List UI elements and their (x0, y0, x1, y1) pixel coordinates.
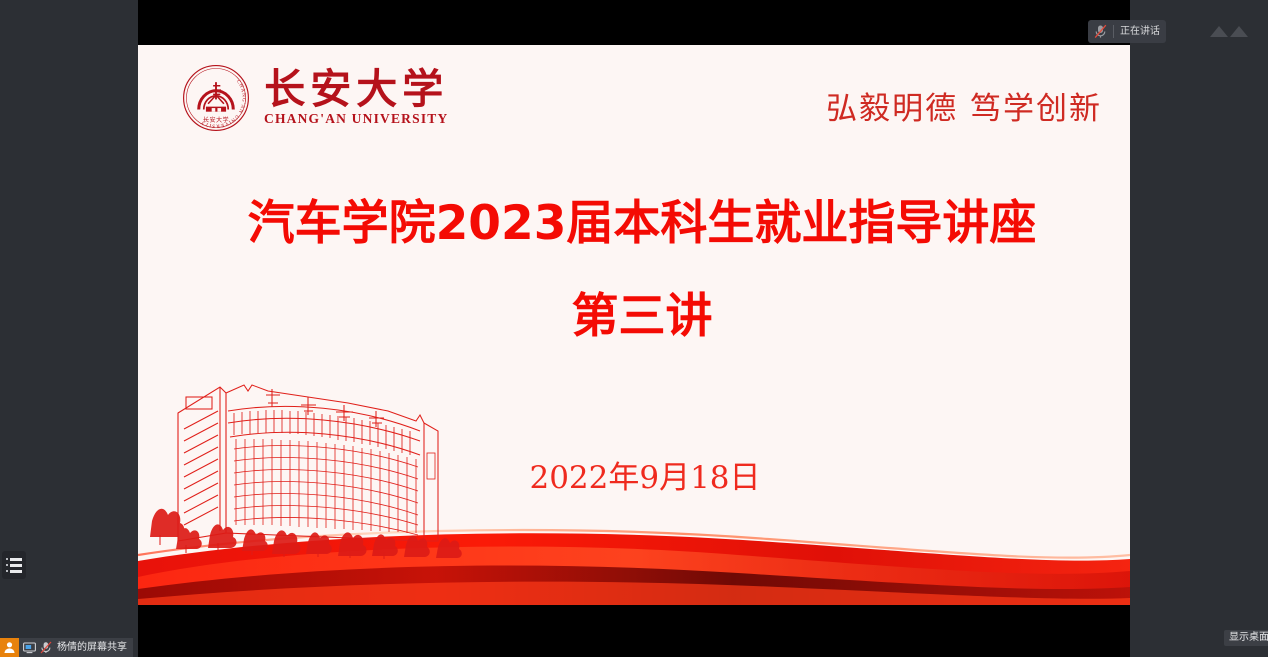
meeting-status-toolbar[interactable]: 正在讲话 (1088, 20, 1166, 43)
svg-text:长安大学: 长安大学 (203, 116, 229, 124)
list-menu-icon[interactable] (2, 551, 26, 579)
person-icon (0, 638, 19, 657)
university-name-cn: 长安大学 (264, 69, 448, 109)
slide-date: 2022年9月18日 (138, 463, 1130, 494)
university-seal-icon: CHANG'AN UNIVERSITY 长安大学 (180, 62, 252, 134)
taskbar-screen-share-item[interactable]: 杨倩的屏幕共享 (0, 638, 133, 657)
taskbar-item-label: 杨倩的屏幕共享 (57, 643, 127, 653)
university-motto: 弘毅明德 笃学创新 (826, 83, 1102, 128)
show-desktop-button[interactable]: 显示桌面 (1224, 630, 1268, 646)
desktop-right-margin (1130, 45, 1268, 657)
letterbox-bottom (138, 605, 1130, 657)
toolbar-divider (1113, 25, 1114, 38)
letterbox-top (138, 0, 1130, 45)
screen-share-view: CHANG'AN UNIVERSITY 长安大学 长安大学 CHANG'AN U… (0, 0, 1268, 657)
mic-muted-icon (40, 641, 52, 654)
slide-title-line-1: 汽车学院2023届本科生就业指导讲座 (138, 200, 1130, 247)
university-name-en: CHANG'AN UNIVERSITY (264, 111, 448, 127)
speaking-status-label: 正在讲话 (1120, 27, 1160, 37)
screen-share-icon (23, 642, 36, 654)
slide-title-line-2: 第三讲 (138, 293, 1130, 340)
presentation-slide: CHANG'AN UNIVERSITY 长安大学 长安大学 CHANG'AN U… (138, 45, 1130, 605)
mic-muted-icon[interactable] (1094, 24, 1107, 39)
chevron-up-icon[interactable] (1210, 20, 1248, 42)
university-building-illustration (148, 345, 498, 575)
university-logo: CHANG'AN UNIVERSITY 长安大学 长安大学 CHANG'AN U… (180, 62, 448, 134)
